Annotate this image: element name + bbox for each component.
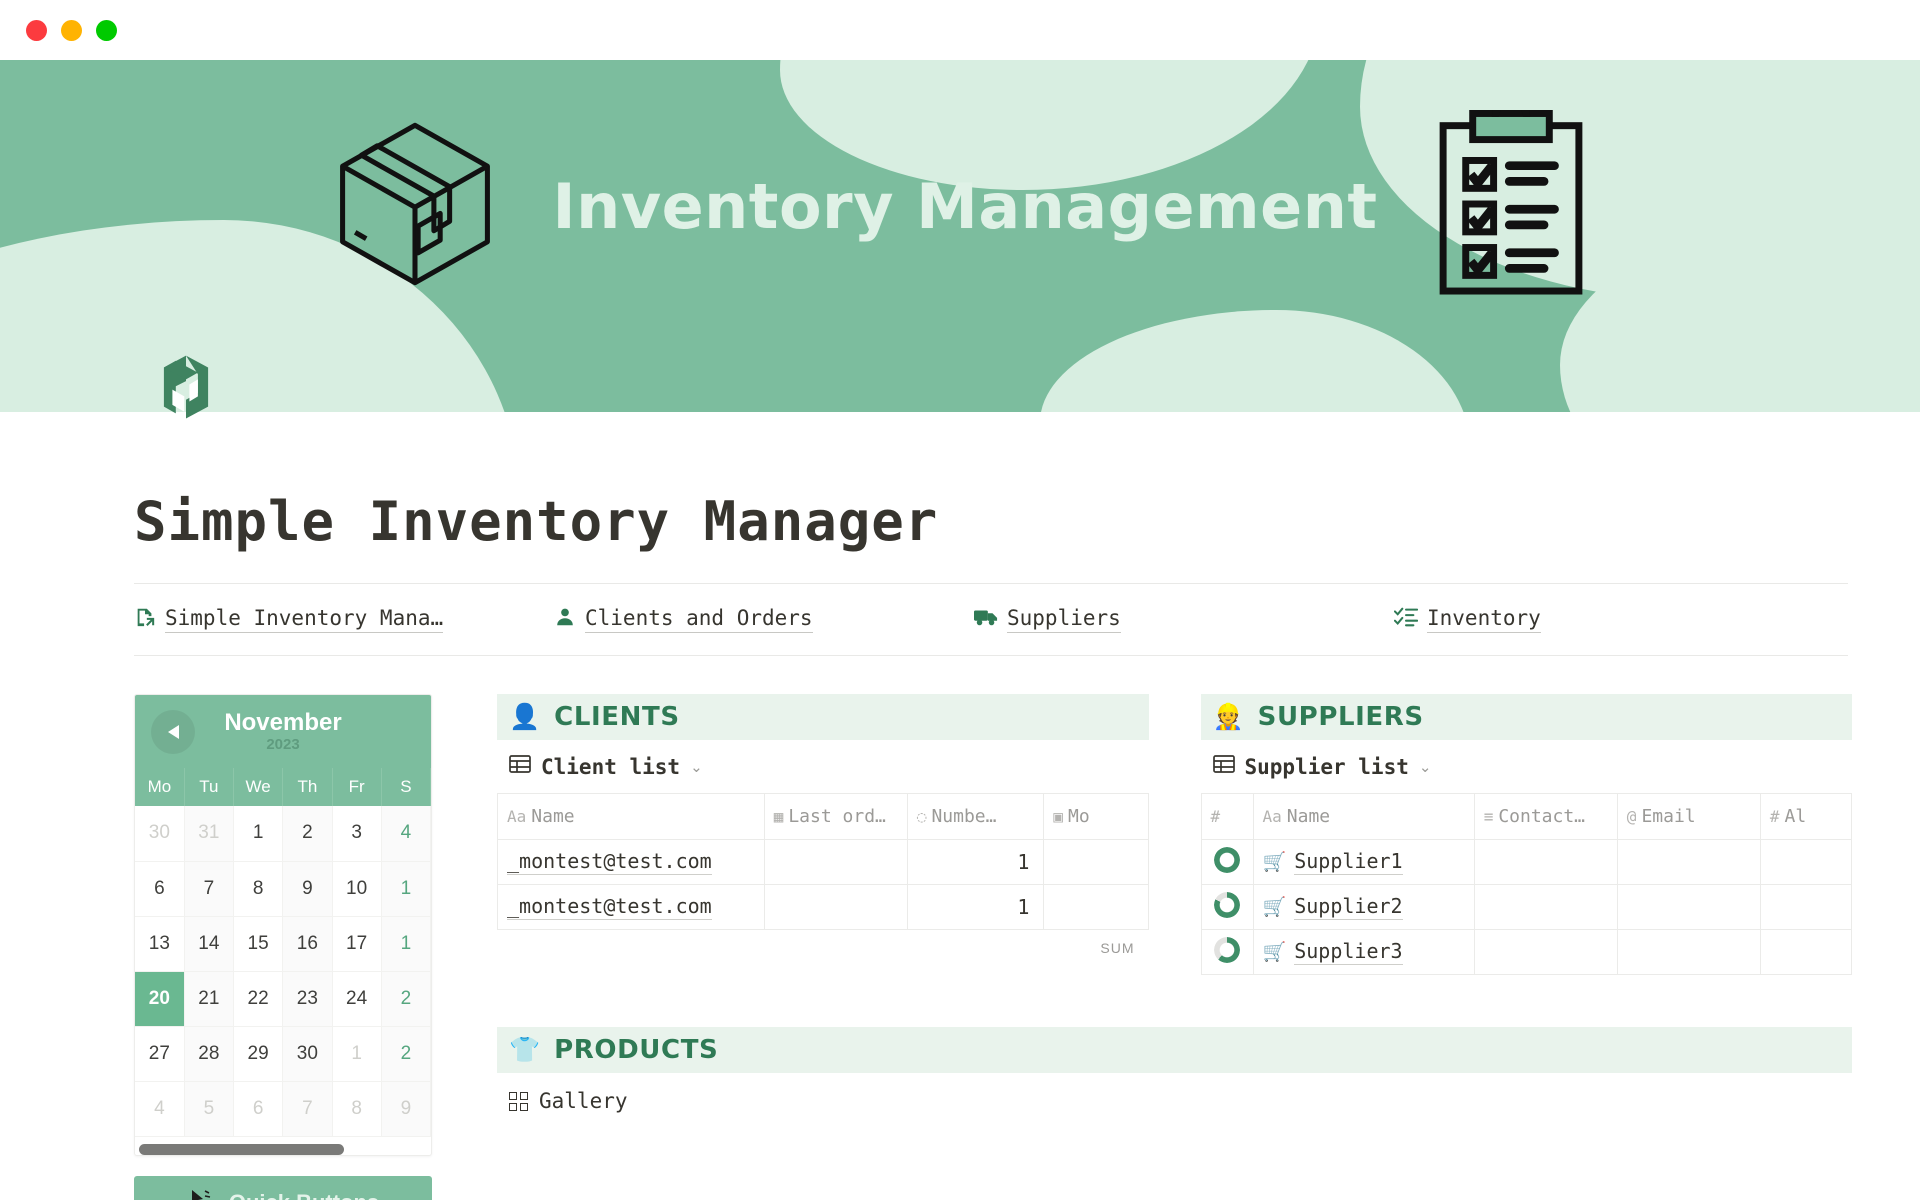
calendar-weekday: We <box>234 768 283 806</box>
rollup-search-icon: ◌ <box>917 807 927 826</box>
truck-icon <box>974 606 998 633</box>
calendar-day-cell[interactable]: 7 <box>283 1081 332 1136</box>
calendar-week-row: 20212223242 <box>135 971 431 1026</box>
calendar-day-cell[interactable]: 7 <box>184 861 233 916</box>
calendar-day-cell[interactable]: 13 <box>135 916 184 971</box>
calendar-prev-button[interactable] <box>151 710 195 754</box>
calendar-weekday: Mo <box>135 768 184 806</box>
calendar-day-cell[interactable]: 9 <box>381 1081 430 1136</box>
clients-sum-label: SUM <box>497 930 1149 956</box>
gallery-view-icon <box>509 1092 528 1111</box>
table-row[interactable]: _montest@test.com1 <box>498 885 1149 930</box>
calendar-day-cell[interactable]: 17 <box>332 916 381 971</box>
calendar-week-row: 30311234 <box>135 806 431 861</box>
clients-view-selector[interactable]: Client list ⌄ <box>497 740 1149 793</box>
table-row[interactable]: _montest@test.com1 <box>498 840 1149 885</box>
supplier-al-cell[interactable] <box>1760 885 1851 930</box>
page-cover-banner: Inventory Management <box>0 60 1920 412</box>
calendar-weekday: Th <box>283 768 332 806</box>
calendar-day-cell[interactable]: 2 <box>283 806 332 861</box>
calendar-day-cell[interactable]: 3 <box>332 806 381 861</box>
zoom-button[interactable] <box>96 20 117 41</box>
calendar-day-cell[interactable]: 23 <box>283 971 332 1026</box>
package-box-icon <box>335 119 495 294</box>
calendar-day-cell[interactable]: 8 <box>234 861 283 916</box>
chevron-down-icon[interactable]: ⌄ <box>690 758 703 776</box>
clients-header-row: AaName ▦Last ord… ◌Numbe… ▣Mo <box>498 794 1149 840</box>
money-type-icon: ▣ <box>1053 807 1063 826</box>
construction-worker-emoji: 👷 <box>1213 705 1244 730</box>
client-name-cell[interactable]: _montest@test.com <box>498 840 765 885</box>
calendar-grid: MoTuWeThFrS 3031123467891011314151617120… <box>135 768 431 1137</box>
supplier-progress-cell[interactable] <box>1201 840 1253 885</box>
calendar-day-cell[interactable]: 1 <box>381 861 430 916</box>
calendar-scroll-thumb[interactable] <box>139 1144 344 1155</box>
suppliers-heading: SUPPLIERS <box>1258 702 1424 732</box>
chevron-down-icon[interactable]: ⌄ <box>1419 758 1432 776</box>
client-money-cell[interactable] <box>1044 840 1148 885</box>
number-type-icon: # <box>1770 807 1780 826</box>
calendar-day-cell[interactable]: 4 <box>135 1081 184 1136</box>
supplier-email-cell[interactable] <box>1617 840 1760 885</box>
nav-link-inventory[interactable]: Inventory <box>1394 606 1814 633</box>
supplier-progress-cell[interactable] <box>1201 885 1253 930</box>
calendar-day-cell[interactable]: 9 <box>283 861 332 916</box>
shopping-cart-icon: 🛒 <box>1263 896 1287 918</box>
calendar-body[interactable]: 3031123467891011314151617120212223242272… <box>135 806 431 1136</box>
supplier-name-cell[interactable]: 🛒Supplier2 <box>1253 885 1474 930</box>
progress-ring <box>1214 847 1240 873</box>
clients-col-number[interactable]: ◌Numbe… <box>907 794 1044 840</box>
nav-link-suppliers[interactable]: Suppliers <box>974 606 1394 633</box>
person-bust-emoji: 👤 <box>509 705 540 730</box>
calendar-day-cell[interactable]: 1 <box>381 916 430 971</box>
close-button[interactable] <box>26 20 47 41</box>
calendar-day-cell[interactable]: 31 <box>184 806 233 861</box>
calendar-day-cell[interactable]: 21 <box>184 971 233 1026</box>
table-row[interactable]: 🛒Supplier3 <box>1201 930 1852 975</box>
clients-heading-bar: 👤 CLIENTS <box>497 694 1149 740</box>
quick-buttons-label: Quick Buttons <box>229 1190 379 1200</box>
page-links-row: Simple Inventory Mana… Clients and Order… <box>0 584 1920 655</box>
text-type-icon: ≡ <box>1484 807 1494 826</box>
number-type-icon: # <box>1211 807 1221 826</box>
supplier-al-cell[interactable] <box>1760 840 1851 885</box>
supplier-name-cell[interactable]: 🛒Supplier1 <box>1253 840 1474 885</box>
email-type-icon: @ <box>1627 807 1637 826</box>
calendar-day-cell[interactable]: 6 <box>234 1081 283 1136</box>
suppliers-view-name: Supplier list <box>1245 755 1409 779</box>
calendar-day-cell[interactable]: 10 <box>332 861 381 916</box>
client-money-cell[interactable] <box>1044 885 1148 930</box>
supplier-al-cell[interactable] <box>1760 930 1851 975</box>
suppliers-col-email[interactable]: @Email <box>1617 794 1760 840</box>
suppliers-col-al[interactable]: #Al <box>1760 794 1851 840</box>
window-titlebar <box>0 0 1920 60</box>
suppliers-body[interactable]: 🛒Supplier1🛒Supplier2🛒Supplier3 <box>1201 840 1852 975</box>
supplier-contact-cell[interactable] <box>1474 840 1617 885</box>
banner-title: Inventory Management <box>553 170 1378 243</box>
suppliers-table[interactable]: # AaName ≡Contact… @Email #Al 🛒Supplier1… <box>1201 793 1853 975</box>
supplier-progress-cell[interactable] <box>1201 930 1253 975</box>
clients-view-name: Client list <box>541 755 680 779</box>
clients-col-last-order[interactable]: ▦Last ord… <box>764 794 907 840</box>
table-row[interactable]: 🛒Supplier2 <box>1201 885 1852 930</box>
calendar-week-row: 2728293012 <box>135 1026 431 1081</box>
calendar-header: November 2023 <box>135 695 431 768</box>
calendar-weekday-row: MoTuWeThFrS <box>135 768 431 806</box>
table-row[interactable]: 🛒Supplier1 <box>1201 840 1852 885</box>
title-type-icon: Aa <box>1263 807 1282 826</box>
quick-buttons-panel[interactable]: Quick Buttons <box>134 1176 432 1200</box>
client-name-cell[interactable]: _montest@test.com <box>498 885 765 930</box>
checklist-icon <box>1394 606 1418 633</box>
supplier-contact-cell[interactable] <box>1474 930 1617 975</box>
pointer-icon <box>187 1188 213 1200</box>
progress-ring <box>1214 892 1240 918</box>
table-view-icon <box>1213 754 1235 779</box>
table-view-icon <box>509 754 531 779</box>
calendar-day-cell[interactable]: 8 <box>332 1081 381 1136</box>
suppliers-heading-bar: 👷 SUPPLIERS <box>1201 694 1853 740</box>
calendar-week-row: 6789101 <box>135 861 431 916</box>
calendar-weekday: S <box>381 768 430 806</box>
calendar-week-row: 456789 <box>135 1081 431 1136</box>
calendar-day-cell[interactable]: 1 <box>332 1026 381 1081</box>
nav-link-label: Suppliers <box>1007 606 1121 633</box>
calendar-day-cell[interactable]: 22 <box>234 971 283 1026</box>
products-heading: PRODUCTS <box>554 1035 718 1065</box>
nav-link-label: Clients and Orders <box>585 606 813 633</box>
suppliers-col-contact[interactable]: ≡Contact… <box>1474 794 1617 840</box>
client-last-order-cell[interactable] <box>764 885 907 930</box>
calendar-day-cell[interactable]: 6 <box>135 861 184 916</box>
calendar-day-cell[interactable]: 28 <box>184 1026 233 1081</box>
title-type-icon: Aa <box>507 807 526 826</box>
calendar-weekday: Tu <box>184 768 233 806</box>
calendar-week-row: 13141516171 <box>135 916 431 971</box>
calendar-widget[interactable]: November 2023 MoTuWeThFrS 30311234678910… <box>134 694 432 1156</box>
minimize-button[interactable] <box>61 20 82 41</box>
progress-ring <box>1214 937 1240 963</box>
calendar-weekday: Fr <box>332 768 381 806</box>
cube-logo-icon <box>152 352 220 439</box>
calendar-day-cell[interactable]: 16 <box>283 916 332 971</box>
calendar-day-cell[interactable]: 4 <box>381 806 430 861</box>
calendar-day-cell[interactable]: 24 <box>332 971 381 1026</box>
calendar-day-cell[interactable]: 2 <box>381 971 430 1026</box>
clients-col-money[interactable]: ▣Mo <box>1044 794 1148 840</box>
supplier-email-cell[interactable] <box>1617 930 1760 975</box>
supplier-name-cell[interactable]: 🛒Supplier3 <box>1253 930 1474 975</box>
page-title: Simple Inventory Manager <box>0 412 1920 553</box>
client-number-cell[interactable]: 1 <box>907 885 1044 930</box>
clients-block: 👤 CLIENTS Client list ⌄ <box>497 694 1149 975</box>
linked-page-icon <box>134 606 156 633</box>
calendar-day-cell[interactable]: 30 <box>283 1026 332 1081</box>
clients-heading: CLIENTS <box>554 702 680 732</box>
calendar-day-cell[interactable]: 27 <box>135 1026 184 1081</box>
clients-table[interactable]: AaName ▦Last ord… ◌Numbe… ▣Mo _montest@t… <box>497 793 1149 930</box>
tshirt-emoji: 👕 <box>509 1038 540 1063</box>
products-heading-bar: 👕 PRODUCTS <box>497 1027 1852 1073</box>
calendar-day-cell[interactable]: 2 <box>381 1026 430 1081</box>
calendar-day-cell[interactable]: 30 <box>135 806 184 861</box>
shopping-cart-icon: 🛒 <box>1263 851 1287 873</box>
products-view-selector[interactable]: Gallery <box>497 1073 1852 1113</box>
products-view-name: Gallery <box>539 1089 628 1113</box>
person-icon <box>554 606 576 633</box>
clipboard-checklist-icon <box>1436 110 1586 303</box>
nav-link-simple-inventory-manager[interactable]: Simple Inventory Mana… <box>134 606 554 633</box>
clients-col-name[interactable]: AaName <box>498 794 765 840</box>
suppliers-col-index[interactable]: # <box>1201 794 1253 840</box>
calendar-day-cell[interactable]: 15 <box>234 916 283 971</box>
client-number-cell[interactable]: 1 <box>907 840 1044 885</box>
clients-body[interactable]: _montest@test.com1_montest@test.com1 <box>498 840 1149 930</box>
supplier-email-cell[interactable] <box>1617 885 1760 930</box>
calendar-day-cell[interactable]: 5 <box>184 1081 233 1136</box>
suppliers-view-selector[interactable]: Supplier list ⌄ <box>1201 740 1853 793</box>
client-last-order-cell[interactable] <box>764 840 907 885</box>
calendar-scrollbar[interactable] <box>139 1144 427 1155</box>
suppliers-col-name[interactable]: AaName <box>1253 794 1474 840</box>
calendar-day-cell[interactable]: 1 <box>234 806 283 861</box>
suppliers-header-row: # AaName ≡Contact… @Email #Al <box>1201 794 1852 840</box>
nav-link-clients-and-orders[interactable]: Clients and Orders <box>554 606 974 633</box>
calendar-day-cell[interactable]: 14 <box>184 916 233 971</box>
products-block: 👕 PRODUCTS Gallery <box>497 1027 1852 1113</box>
calendar-day-cell[interactable]: 20 <box>135 971 184 1026</box>
shopping-cart-icon: 🛒 <box>1263 941 1287 963</box>
nav-link-label: Simple Inventory Mana… <box>165 606 443 633</box>
calendar-day-cell[interactable]: 29 <box>234 1026 283 1081</box>
nav-link-label: Inventory <box>1427 606 1541 633</box>
suppliers-block: 👷 SUPPLIERS Supplier list ⌄ <box>1201 694 1853 975</box>
supplier-contact-cell[interactable] <box>1474 885 1617 930</box>
calendar-type-icon: ▦ <box>774 807 784 826</box>
